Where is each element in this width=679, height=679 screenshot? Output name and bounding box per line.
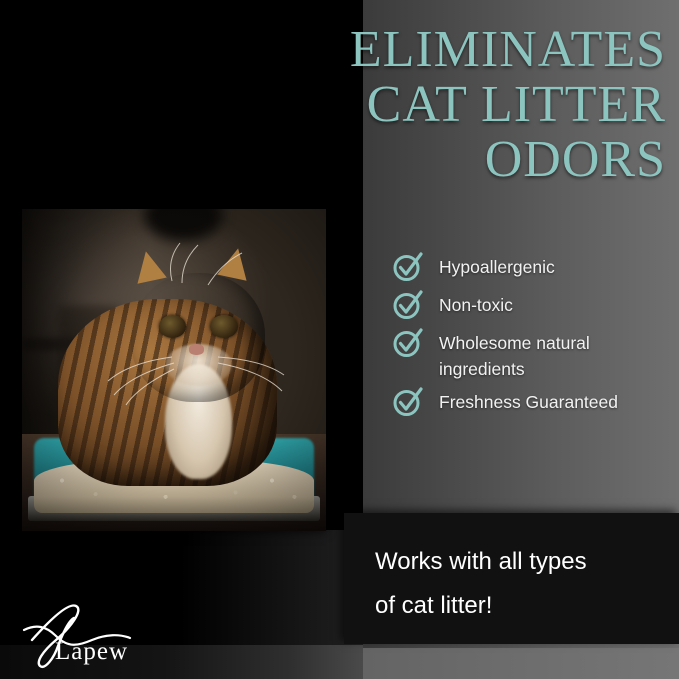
headline-line-2: CAT LITTER bbox=[170, 77, 666, 132]
feature-label: Wholesome natural ingredients bbox=[439, 327, 671, 382]
background-left-fade bbox=[180, 530, 363, 650]
feature-label: Non-toxic bbox=[439, 289, 513, 318]
feature-item: Freshness Guaranteed bbox=[391, 386, 671, 420]
background-bottom-strip bbox=[363, 648, 679, 679]
kitten-litter-box-photo bbox=[22, 209, 326, 531]
callout-box: Works with all types of cat litter! bbox=[344, 513, 679, 644]
feature-label: Freshness Guaranteed bbox=[439, 386, 618, 415]
feature-item: Hypoallergenic bbox=[391, 251, 671, 285]
check-circle-icon bbox=[391, 249, 425, 283]
headline-line-1: ELIMINATES bbox=[170, 22, 666, 77]
feature-item: Wholesome natural ingredients bbox=[391, 327, 671, 382]
check-circle-icon bbox=[391, 384, 425, 418]
feature-item: Non-toxic bbox=[391, 289, 671, 323]
brand-wordmark: Lapew bbox=[55, 638, 128, 666]
photo-vignette bbox=[22, 209, 326, 531]
check-circle-icon bbox=[391, 287, 425, 321]
photo-scene bbox=[22, 209, 326, 531]
headline-line-3: ODORS bbox=[170, 132, 666, 187]
check-circle-icon bbox=[391, 325, 425, 359]
callout-line-2: of cat litter! bbox=[375, 584, 655, 628]
headline: ELIMINATES CAT LITTER ODORS bbox=[170, 22, 666, 187]
product-infographic: ELIMINATES CAT LITTER ODORS Hypoallergen… bbox=[0, 0, 679, 679]
feature-label: Hypoallergenic bbox=[439, 251, 555, 280]
brand-logo: Lapew bbox=[12, 600, 172, 672]
callout-text: Works with all types of cat litter! bbox=[375, 540, 655, 628]
feature-list: Hypoallergenic Non-toxic Wholesome natur… bbox=[391, 251, 671, 424]
callout-line-1: Works with all types bbox=[375, 540, 655, 584]
